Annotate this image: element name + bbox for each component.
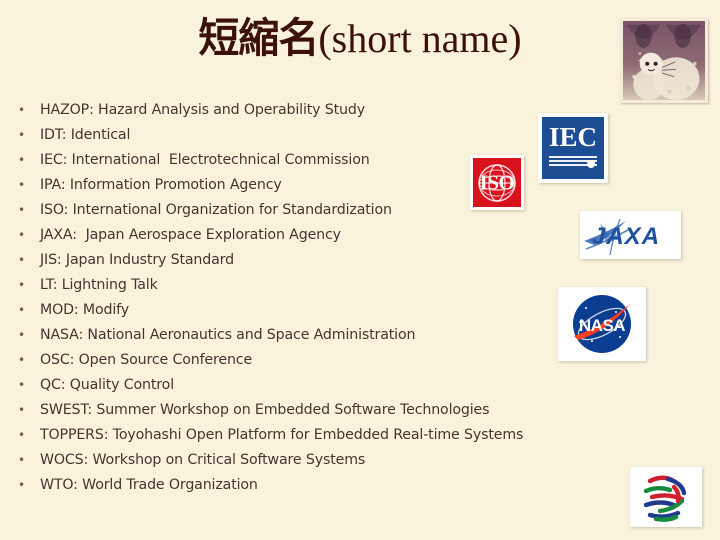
bullet-icon: • [18, 448, 25, 473]
decorative-artwork-image [620, 18, 708, 103]
list-item-label: IPA: Information Promotion Agency [40, 177, 282, 193]
bullet-icon: • [18, 173, 25, 198]
list-item-label: JIS: Japan Industry Standard [40, 252, 234, 268]
list-item: •QC: Quality Control [14, 373, 654, 398]
bullet-icon: • [18, 248, 25, 273]
iec-logo: IEC [538, 113, 608, 183]
list-item-label: IEC: International Electrotechnical Comm… [40, 152, 370, 168]
list-item-label: MOD: Modify [40, 302, 129, 318]
list-item-label: WTO: World Trade Organization [40, 477, 258, 493]
list-item-label: HAZOP: Hazard Analysis and Operability S… [40, 102, 365, 118]
list-item: •JIS: Japan Industry Standard [14, 248, 654, 273]
jaxa-logo: JAXA [580, 211, 681, 259]
wto-logo [630, 467, 702, 527]
list-item-label: OSC: Open Source Conference [40, 352, 252, 368]
list-item-label: LT: Lightning Talk [40, 277, 158, 293]
iso-logo: ISO [470, 155, 524, 210]
list-item: •ISO: International Organization for Sta… [14, 198, 654, 223]
bullet-icon: • [18, 273, 25, 298]
bullet-icon: • [18, 398, 25, 423]
title-japanese: 短縮名 [198, 14, 318, 62]
list-item-label: SWEST: Summer Workshop on Embedded Softw… [40, 402, 489, 418]
artwork-svg [623, 21, 705, 100]
bullet-icon: • [18, 98, 25, 123]
title-english: (short name) [318, 16, 521, 61]
iso-logo-inner: ISO [473, 158, 521, 207]
iso-logo-text: ISO [473, 172, 521, 193]
bullet-icon: • [18, 473, 25, 498]
bullet-icon: • [18, 423, 25, 448]
list-item-label: QC: Quality Control [40, 377, 174, 393]
list-item: •WOCS: Workshop on Critical Software Sys… [14, 448, 654, 473]
list-item-label: TOPPERS: Toyohashi Open Platform for Emb… [40, 427, 523, 443]
list-item-label: JAXA: Japan Aerospace Exploration Agency [40, 227, 341, 243]
list-item: •SWEST: Summer Workshop on Embedded Soft… [14, 398, 654, 423]
list-item-label: IDT: Identical [40, 127, 130, 143]
bullet-icon: • [18, 148, 25, 173]
iec-logo-inner: IEC [542, 117, 604, 179]
list-item-label: WOCS: Workshop on Critical Software Syst… [40, 452, 365, 468]
bullet-icon: • [18, 298, 25, 323]
nasa-logo: NASA [558, 287, 646, 361]
list-item: •TOPPERS: Toyohashi Open Platform for Em… [14, 423, 654, 448]
list-item: •WTO: World Trade Organization [14, 473, 654, 498]
iec-logo-text: IEC [542, 123, 604, 151]
svg-text:JAXA: JAXA [592, 223, 660, 250]
bullet-icon: • [18, 198, 25, 223]
bullet-icon: • [18, 123, 25, 148]
list-item-label: ISO: International Organization for Stan… [40, 202, 392, 218]
page-title: 短縮名(short name) [0, 18, 720, 59]
bullet-icon: • [18, 348, 25, 373]
list-item: •JAXA: Japan Aerospace Exploration Agenc… [14, 223, 654, 248]
bullet-icon: • [18, 373, 25, 398]
nasa-logo-svg: NASA [558, 287, 646, 361]
jaxa-logo-svg: JAXA [580, 211, 681, 259]
bullet-icon: • [18, 323, 25, 348]
svg-text:NASA: NASA [579, 316, 625, 335]
bullet-icon: • [18, 223, 25, 248]
slide-canvas: 短縮名(short name) •HAZOP: Hazard Analysis … [0, 0, 720, 540]
iec-logo-dot [587, 160, 595, 168]
wto-logo-svg [630, 467, 702, 527]
list-item-label: NASA: National Aeronautics and Space Adm… [40, 327, 415, 343]
